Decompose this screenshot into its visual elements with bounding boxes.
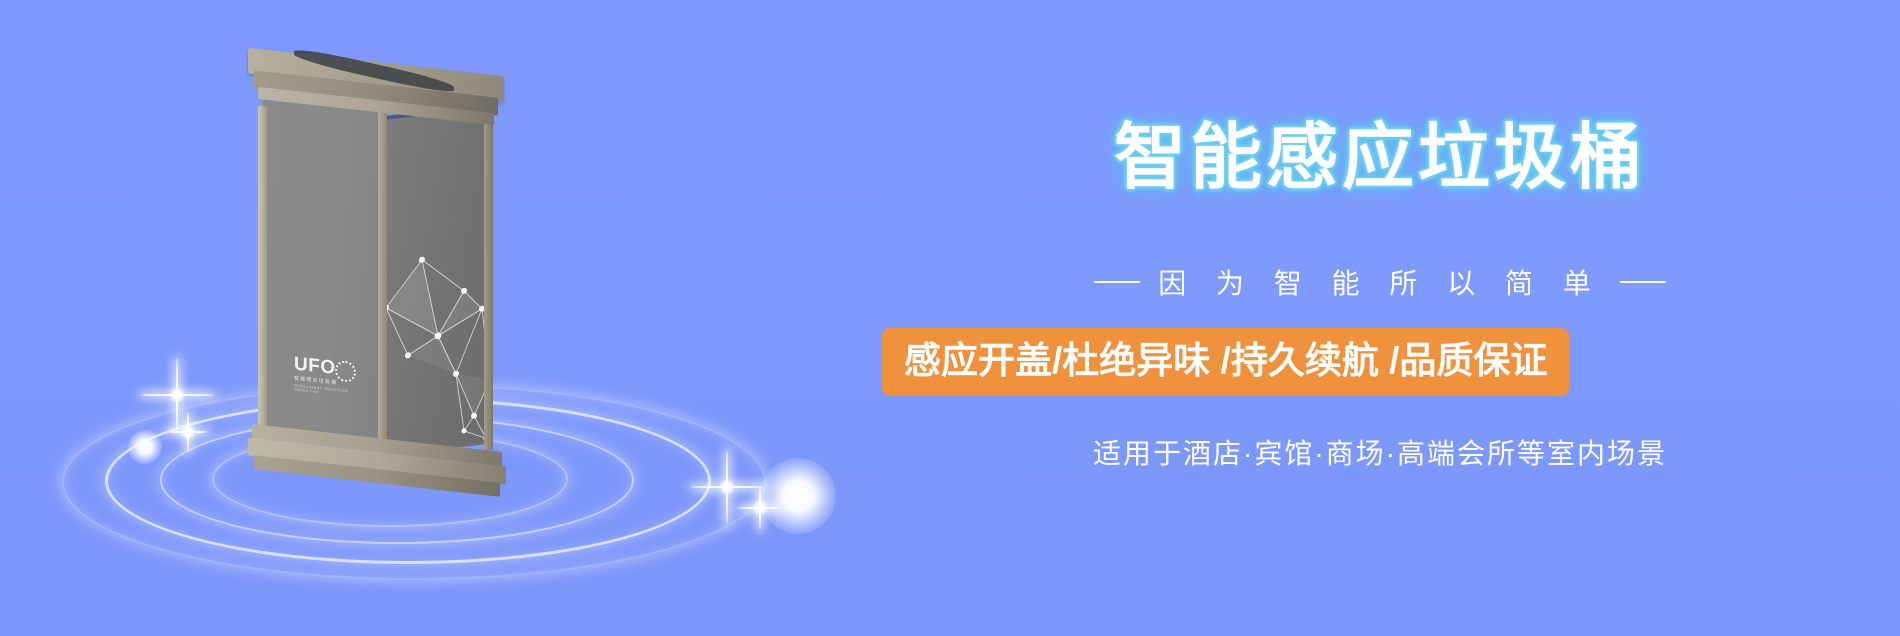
product-hero-banner: UFO 智能感应垃圾桶 INTELLIGENT INDUCTION TRASH … bbox=[0, 0, 1900, 636]
brand-logo: UFO 智能感应垃圾桶 INTELLIGENT INDUCTION TRASH … bbox=[294, 354, 360, 405]
subtitle-row: 因 为 智 能 所 以 简 单 bbox=[860, 262, 1900, 302]
product-stage: UFO 智能感应垃圾桶 INTELLIGENT INDUCTION TRASH … bbox=[0, 0, 860, 636]
subtitle-rule-left bbox=[1094, 281, 1140, 283]
glow-orb-icon bbox=[760, 458, 836, 534]
smart-trash-bin-product-image: UFO 智能感应垃圾桶 INTELLIGENT INDUCTION TRASH … bbox=[248, 58, 516, 478]
marketing-copy-block: 智能感应垃圾桶 因 为 智 能 所 以 简 单 感应开盖/杜绝异味 /持久续航 … bbox=[860, 0, 1900, 636]
polygon-network-icon bbox=[378, 241, 496, 465]
feature-highlight-text: 感应开盖/杜绝异味 /持久续航 /品质保证 bbox=[904, 340, 1547, 381]
bin-edge-center bbox=[378, 110, 387, 450]
bin-edge-left bbox=[258, 106, 267, 443]
page-title: 智能感应垃圾桶 bbox=[860, 122, 1900, 194]
glow-orb-icon bbox=[128, 430, 162, 464]
subtitle-rule-right bbox=[1620, 281, 1666, 283]
subtitle-text: 因 为 智 能 所 以 简 单 bbox=[1158, 262, 1601, 302]
usage-scenario-text: 适用于酒店·宾馆·商场·高端会所等室内场景 bbox=[860, 432, 1900, 472]
feature-highlight-badge: 感应开盖/杜绝异味 /持久续航 /品质保证 bbox=[882, 328, 1569, 396]
bin-edge-right bbox=[484, 115, 493, 450]
